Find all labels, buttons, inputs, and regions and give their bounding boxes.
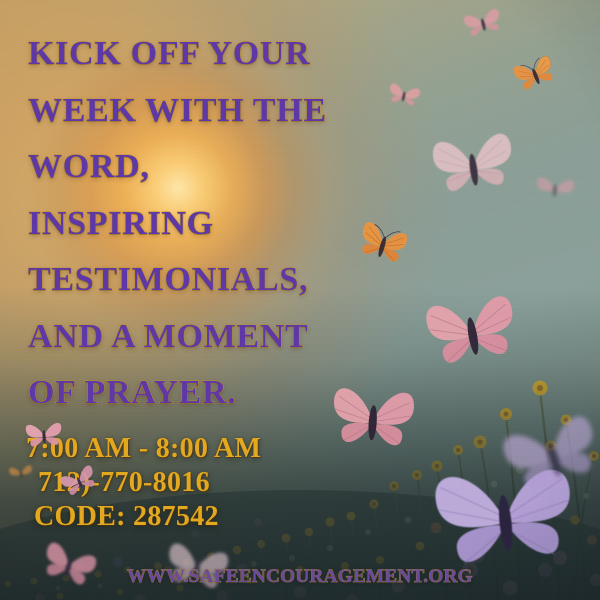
butterfly-icon	[21, 417, 67, 454]
headline-line-2: WEEK WITH THE	[28, 83, 420, 140]
headline-block: KICK OFF YOUR WEEK WITH THE WORD, INSPIR…	[28, 26, 420, 422]
headline-line-3: WORD,	[28, 139, 420, 196]
headline-line-6: AND A MOMENT	[28, 309, 420, 366]
headline-line-7: OF PRAYER.	[28, 365, 420, 422]
headline-line-5: TESTIMONIALS,	[28, 252, 420, 309]
access-code: CODE: 287542	[34, 500, 261, 534]
website-url[interactable]: WWW.SAFEENCOURAGEMENT.ORG	[0, 566, 600, 588]
headline-line-1: KICK OFF YOUR	[28, 26, 420, 83]
headline-line-4: INSPIRING	[28, 196, 420, 253]
poster-canvas: KICK OFF YOUR WEEK WITH THE WORD, INSPIR…	[0, 0, 600, 600]
